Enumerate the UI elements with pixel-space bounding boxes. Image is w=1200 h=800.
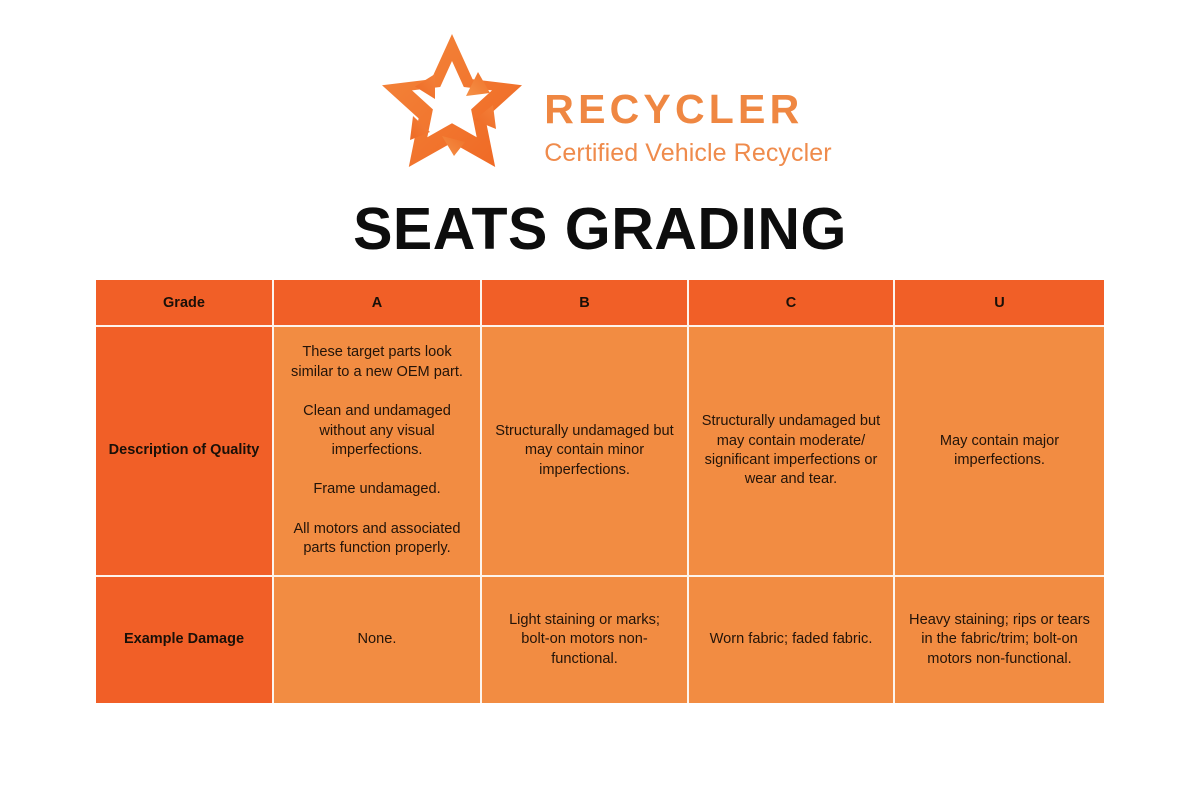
logo-wordmark: RECYCLER Certified Vehicle Recycler (544, 45, 831, 166)
cell-description-a: These target parts look similar to a new… (274, 327, 482, 575)
header-cell-c: C (689, 280, 895, 327)
cell-paragraph: These target parts look similar to a new… (284, 343, 470, 382)
row-label-description-of-quality: Description of Quality (96, 327, 274, 575)
cell-paragraph: Worn fabric; faded fabric. (701, 630, 881, 649)
row-label-example-damage: Example Damage (96, 575, 274, 703)
header-cell-a: A (274, 280, 482, 327)
brand-name: RECYCLER (544, 89, 831, 130)
cell-paragraph: Frame undamaged. (284, 480, 470, 499)
cell-example-b: Light staining or marks; bolt-on motors … (482, 575, 689, 703)
recycling-star-logo-icon (368, 30, 536, 180)
cell-paragraph: None. (286, 630, 468, 649)
table-row: Description of Quality These target part… (96, 327, 1104, 575)
header-cell-u: U (895, 280, 1104, 327)
table-row: Example Damage None. Light staining or m… (96, 575, 1104, 703)
cell-paragraph: Light staining or marks; bolt-on motors … (494, 611, 675, 669)
cell-description-c: Structurally undamaged but may contain m… (689, 327, 895, 575)
cell-paragraph: Structurally undamaged but may contain m… (492, 422, 677, 480)
cell-description-u: May contain major imperfections. (895, 327, 1104, 575)
brand-logo: RECYCLER Certified Vehicle Recycler (0, 30, 1200, 180)
page-title: SEATS GRADING (0, 196, 1200, 264)
header-cell-b: B (482, 280, 689, 327)
cell-paragraph: All motors and associated parts function… (284, 520, 470, 559)
cell-paragraph: Clean and undamaged without any visual i… (284, 402, 470, 460)
cell-example-c: Worn fabric; faded fabric. (689, 575, 895, 703)
table-header-row: Grade A B C U (96, 280, 1104, 327)
logo-inner: RECYCLER Certified Vehicle Recycler (368, 30, 831, 180)
seats-grading-document: RECYCLER Certified Vehicle Recycler SEAT… (0, 0, 1200, 800)
seats-grading-table: Grade A B C U Description of Quality The… (96, 280, 1104, 703)
cell-paragraph: Structurally undamaged but may contain m… (699, 412, 883, 490)
cell-paragraph: May contain major imperfections. (905, 432, 1094, 471)
cell-example-a: None. (274, 575, 482, 703)
header-cell-grade: Grade (96, 280, 274, 327)
cell-paragraph: Heavy staining; rips or tears in the fab… (907, 611, 1092, 669)
cell-example-u: Heavy staining; rips or tears in the fab… (895, 575, 1104, 703)
cell-description-b: Structurally undamaged but may contain m… (482, 327, 689, 575)
brand-tagline: Certified Vehicle Recycler (544, 141, 831, 166)
